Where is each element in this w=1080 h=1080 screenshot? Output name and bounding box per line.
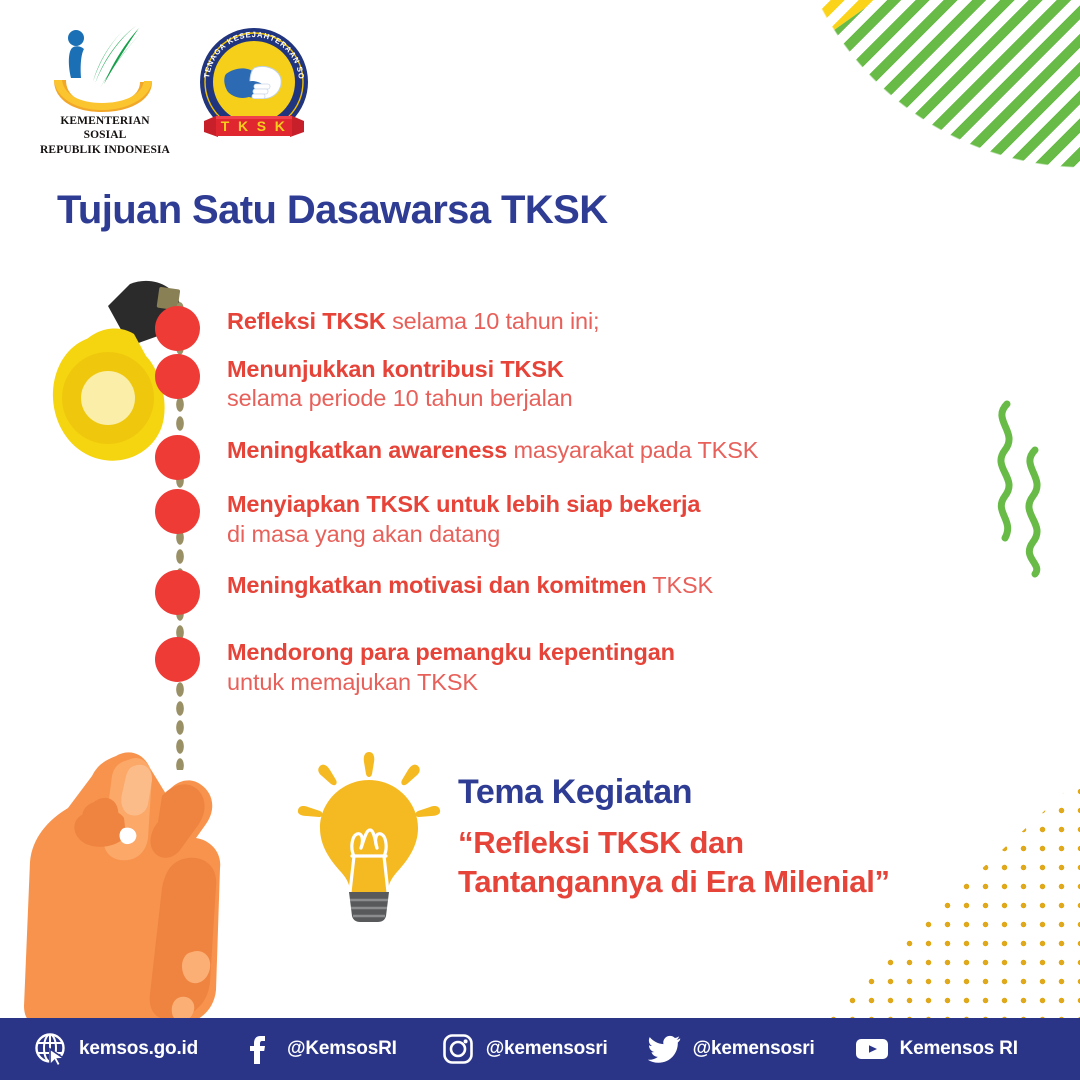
- footer-label-youtube: Kemensos RI: [900, 1038, 1018, 1060]
- theme-copy: Tema Kegiatan “Refleksi TKSK dan Tantang…: [458, 752, 890, 901]
- footer-label-instagram: @kemensosri: [486, 1038, 608, 1060]
- facebook-icon: [242, 1032, 276, 1066]
- footer-social-bar: kemsos.go.id @KemsosRI @kemensosri @keme…: [0, 1018, 1080, 1080]
- globe-cursor-icon: [34, 1032, 68, 1066]
- footer-item-youtube[interactable]: Kemensos RI: [855, 1032, 1018, 1066]
- kemensos-logo-line1: KEMENTERIAN SOSIAL: [40, 114, 170, 143]
- footer-item-website[interactable]: kemsos.go.id: [34, 1032, 198, 1066]
- list-item: Meningkatkan awareness masyarakat pada T…: [155, 435, 935, 465]
- bullet-dot-icon: [155, 435, 200, 480]
- footer-item-twitter[interactable]: @kemensosri: [648, 1032, 815, 1066]
- list-item-sub: di masa yang akan datang: [227, 520, 700, 548]
- bullet-dot-icon: [155, 354, 200, 399]
- wavy-lines-decoration: [985, 398, 1065, 583]
- list-item-strong: Menyiapkan TKSK untuk lebih siap bekerja: [227, 491, 700, 519]
- tksk-emblem-icon: TENAGA KESEJAHTERAAN SOSIAL KECAMATAN T …: [194, 24, 314, 154]
- bullet-dot-icon: [155, 570, 200, 615]
- list-item: Menyiapkan TKSK untuk lebih siap bekerja…: [155, 489, 935, 548]
- list-item-strong: Refleksi TKSK selama 10 tahun ini;: [227, 308, 599, 336]
- list-item-text: Menyiapkan TKSK untuk lebih siap bekerja…: [227, 489, 700, 548]
- list-item: Mendorong para pemangku kepentingan untu…: [155, 637, 935, 696]
- footer-label-twitter: @kemensosri: [693, 1038, 815, 1060]
- kemensos-logo-line2: REPUBLIK INDONESIA: [40, 143, 170, 157]
- list-item-text: Menunjukkan kontribusi TKSK selama perio…: [227, 354, 573, 413]
- list-item-strong: Menunjukkan kontribusi TKSK: [227, 356, 573, 384]
- list-item: Refleksi TKSK selama 10 tahun ini;: [155, 306, 935, 336]
- footer-label-facebook: @KemsosRI: [287, 1038, 397, 1060]
- list-item: Menunjukkan kontribusi TKSK selama perio…: [155, 354, 935, 413]
- list-item-strong: Meningkatkan awareness masyarakat pada T…: [227, 437, 758, 465]
- bullet-dot-icon: [155, 489, 200, 534]
- list-item-sub: selama periode 10 tahun berjalan: [227, 384, 573, 412]
- list-item-text: Refleksi TKSK selama 10 tahun ini;: [227, 306, 599, 336]
- page-title: Tujuan Satu Dasawarsa TKSK: [57, 188, 607, 233]
- striped-arc-decoration: [616, 0, 1080, 168]
- footer-item-facebook[interactable]: @KemsosRI: [242, 1032, 397, 1066]
- list-item-strong: Meningkatkan motivasi dan komitmen TKSK: [227, 572, 713, 600]
- youtube-icon: [855, 1032, 889, 1066]
- theme-quote-line2: Tantangannya di Era Milenial”: [458, 863, 890, 901]
- theme-quote-line1: “Refleksi TKSK dan: [458, 824, 890, 862]
- kemensos-logo-icon: [40, 22, 170, 114]
- twitter-icon: [648, 1032, 682, 1066]
- theme-quote: “Refleksi TKSK dan Tantangannya di Era M…: [458, 824, 890, 901]
- tksk-ribbon-text: T K S K: [221, 118, 288, 134]
- lightbulb-idea-icon: [296, 752, 446, 922]
- hand-pulling-cord-icon: [20, 742, 270, 1037]
- theme-title: Tema Kegiatan: [458, 774, 890, 811]
- theme-section: Tema Kegiatan “Refleksi TKSK dan Tantang…: [296, 752, 890, 922]
- bullet-dot-icon: [155, 306, 200, 351]
- list-item-strong: Mendorong para pemangku kepentingan: [227, 639, 675, 667]
- bullet-dot-icon: [155, 637, 200, 682]
- list-item-text: Meningkatkan awareness masyarakat pada T…: [227, 435, 758, 465]
- list-item-sub: untuk memajukan TKSK: [227, 668, 675, 696]
- instagram-icon: [441, 1032, 475, 1066]
- footer-label-website: kemsos.go.id: [79, 1038, 198, 1060]
- list-item-text: Mendorong para pemangku kepentingan untu…: [227, 637, 675, 696]
- footer-item-instagram[interactable]: @kemensosri: [441, 1032, 608, 1066]
- infographic-canvas: KEMENTERIAN SOSIAL REPUBLIK INDONESIA TE…: [0, 0, 1080, 1080]
- list-item: Meningkatkan motivasi dan komitmen TKSK: [155, 570, 935, 600]
- header-logos: KEMENTERIAN SOSIAL REPUBLIK INDONESIA TE…: [40, 22, 314, 157]
- kemensos-logo: KEMENTERIAN SOSIAL REPUBLIK INDONESIA: [40, 22, 170, 157]
- objectives-list: Refleksi TKSK selama 10 tahun ini; Menun…: [155, 300, 935, 696]
- list-item-text: Meningkatkan motivasi dan komitmen TKSK: [227, 570, 713, 600]
